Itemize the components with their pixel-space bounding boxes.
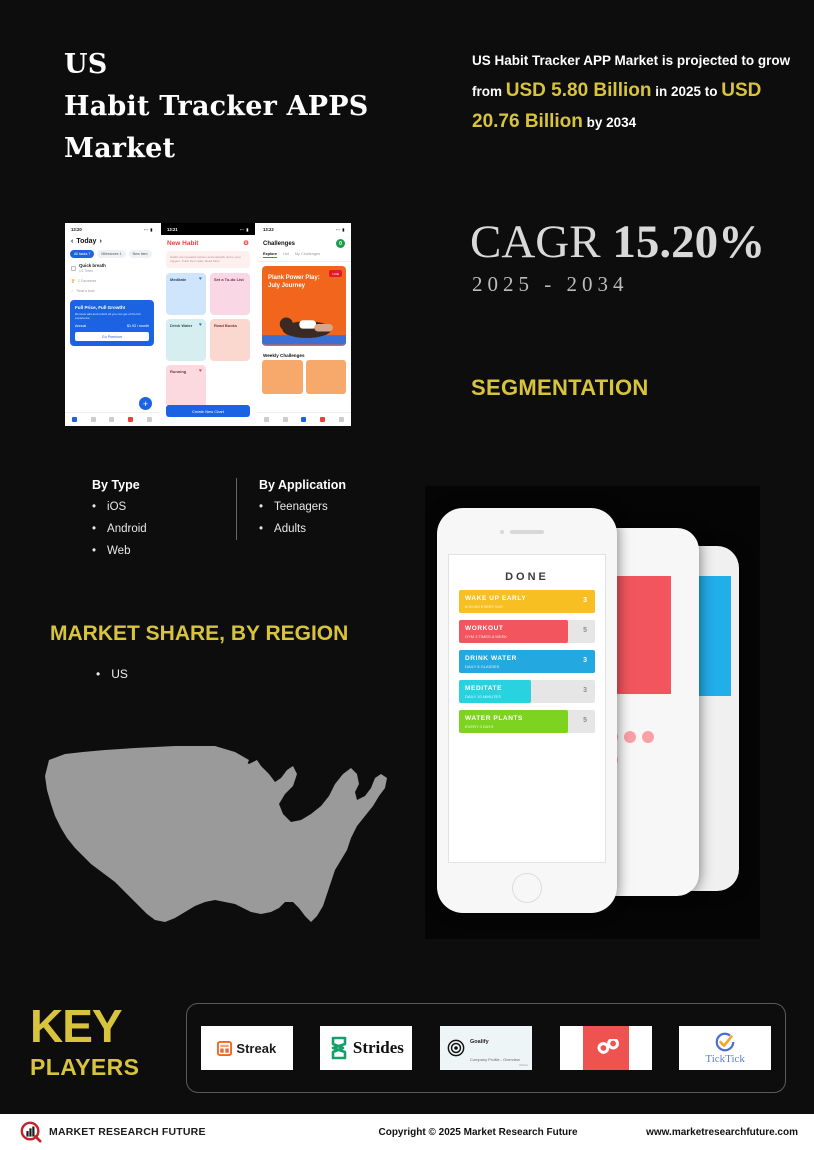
- loop-icon: [583, 1026, 629, 1070]
- habit-sub: EVERY 3 DAYS: [465, 724, 493, 729]
- weekly-card-2[interactable]: [306, 360, 347, 394]
- nav-icon-journal[interactable]: [72, 417, 77, 422]
- task-row[interactable]: Quick breath 1/2 Times: [65, 260, 159, 276]
- chevron-right-icon[interactable]: ›: [99, 238, 101, 245]
- avatar[interactable]: 0: [336, 239, 345, 248]
- title-line-2: Habit Tracker APPS: [64, 86, 368, 128]
- streak-icon: [217, 1041, 232, 1056]
- new-habit-header: New Habit ⚙: [161, 235, 255, 251]
- heart-icon-3[interactable]: ♥: [199, 368, 202, 374]
- status-time-c: 13:22: [263, 227, 274, 232]
- segment-title-application: By Application: [259, 478, 366, 492]
- footer: MARKET RESEARCH FUTURE Copyright © 2025 …: [0, 1114, 814, 1150]
- footer-copyright: Copyright © 2025 Market Research Future: [310, 1127, 646, 1138]
- habit-card-drink-water[interactable]: Drink Water ♥: [166, 319, 206, 361]
- segmentation-heading: SEGMENTATION: [471, 375, 649, 401]
- habit-progress-row[interactable]: MEDITATE DAILY 10 MINUTES 3: [459, 680, 595, 703]
- region-heading: MARKET SHARE, BY REGION: [50, 622, 348, 646]
- goalify-mark: Others: [519, 1063, 528, 1067]
- habit-progress-row[interactable]: DRINK WATER DAILY 8 GLASSES 3: [459, 650, 595, 673]
- logo-goalify[interactable]: Goalify Company Profile - Overview Other…: [440, 1026, 532, 1070]
- bullet-icon: •: [92, 545, 96, 557]
- task-sub: 1/2 Times: [79, 269, 93, 273]
- trophy-icon: 🏆: [71, 279, 75, 283]
- go-premium-button[interactable]: Go Premium: [75, 332, 149, 341]
- cagr-label: CAGR: [470, 216, 601, 268]
- players-word: PLAYERS: [30, 1056, 139, 1079]
- us-map: [35, 730, 395, 965]
- gear-icon[interactable]: ⚙: [243, 239, 249, 247]
- nav-icon-more[interactable]: [147, 417, 152, 422]
- nav-icon-rewards-c[interactable]: [320, 417, 325, 422]
- habit-progress-row[interactable]: WAKE UP EARLY 6:00 AM EVERY DAY 3: [459, 590, 595, 613]
- segment-item-label: Android: [107, 523, 147, 535]
- habit-note: Habits are repeated actions automaticall…: [166, 251, 250, 268]
- group-row-read[interactable]: ✓ Read a book: [65, 286, 159, 296]
- title-line-3: Market: [64, 128, 368, 170]
- segment-item-label: Web: [107, 545, 130, 557]
- bullet-icon: •: [259, 501, 263, 513]
- segment-item: •Android: [92, 523, 222, 535]
- projection-mid: in 2025 to: [655, 84, 717, 99]
- region-item-label: US: [111, 667, 128, 681]
- chip-new-item[interactable]: New item: [129, 250, 152, 258]
- strides-icon: [329, 1036, 349, 1060]
- segment-title-type: By Type: [92, 478, 222, 492]
- status-bar-c: 13:22 ⋯ ▮: [257, 223, 351, 235]
- projection-text: US Habit Tracker APP Market is projected…: [472, 46, 792, 138]
- status-time: 13:20: [71, 227, 82, 232]
- mrfr-logo-icon: [20, 1121, 42, 1143]
- promo-plan: Annual: [75, 324, 86, 328]
- goalify-label: Goalify: [470, 1039, 489, 1045]
- habit-card-label-2: Drink Water: [170, 323, 192, 328]
- key-players-logo-box: Streak Strides Goalify Company Profile -…: [186, 1003, 786, 1093]
- infinity-icon: [591, 1039, 621, 1057]
- footer-brand-label: MARKET RESEARCH FUTURE: [49, 1126, 206, 1138]
- segmentation-columns: By Type •iOS •Android •Web By Applicatio…: [92, 478, 366, 567]
- cagr-value: 15.20%: [612, 216, 765, 268]
- speaker-grille: [510, 530, 544, 534]
- nav-icon-rewards[interactable]: [128, 417, 133, 422]
- ticktick-icon: [714, 1031, 736, 1053]
- cagr-years: 2025 - 2034: [472, 272, 629, 297]
- segment-item: •Web: [92, 545, 222, 557]
- plank-illustration: [262, 302, 346, 346]
- goalify-sub: Company Profile - Overview: [470, 1057, 520, 1062]
- segment-item-label: Adults: [274, 523, 306, 535]
- key-dot: [624, 731, 636, 743]
- projection-lead: US Habit Tracker APP Market is projected…: [472, 53, 790, 68]
- habit-card-label-4: Running: [170, 369, 186, 374]
- checkbox-icon[interactable]: [71, 266, 76, 271]
- ticktick-label: TickTick: [705, 1053, 745, 1065]
- challenges-label: Challenges: [263, 241, 295, 247]
- habit-sub: GYM 3 TIMES A WEEK: [465, 634, 507, 639]
- new-habit-label: New Habit: [167, 240, 198, 247]
- cagr-block: CAGR 15.20%: [470, 216, 765, 268]
- habit-card-label-0: Meditate: [170, 277, 186, 282]
- weekly-challenges-title: Weekly Challenges: [257, 350, 351, 360]
- nav-icon-overview[interactable]: [91, 417, 96, 422]
- habit-card-label-3: Read Books: [214, 323, 237, 328]
- promo-title: Full Price, Full Growth!: [75, 305, 149, 310]
- heart-icon[interactable]: ♥: [199, 276, 202, 282]
- bullet-icon: •: [96, 667, 100, 681]
- habit-name: DRINK WATER: [465, 655, 517, 662]
- banner-title-2: July Journey: [268, 283, 305, 289]
- today-header: ‹ Today ›: [65, 235, 159, 248]
- phone-foreground: DONE WAKE UP EARLY 6:00 AM EVERY DAY 3 W…: [437, 508, 617, 913]
- premium-promo-card[interactable]: Full Price, Full Growth! Remove ads and …: [70, 300, 154, 346]
- segment-item-label: iOS: [107, 501, 126, 513]
- nav-icon-journal-c[interactable]: [264, 417, 269, 422]
- habit-note-link[interactable]: Read More: [205, 259, 220, 263]
- projection-tail: by 2034: [587, 115, 637, 130]
- status-icons: ⋯ ▮: [144, 227, 153, 232]
- logo-ticktick[interactable]: TickTick: [679, 1026, 771, 1070]
- group-row-successes[interactable]: 🏆 2 Successes: [65, 276, 159, 286]
- habit-count: 5: [583, 627, 587, 634]
- segment-item: •Teenagers: [259, 501, 366, 513]
- habit-card-running[interactable]: Running ♥: [166, 365, 206, 407]
- status-bar: 13:20 ⋯ ▮: [65, 223, 159, 235]
- segment-column-application: By Application •Teenagers •Adults: [236, 478, 366, 540]
- check-icon: ✓: [71, 289, 74, 293]
- region-item: • US: [96, 667, 128, 681]
- segment-item-label: Teenagers: [274, 501, 328, 513]
- streak-label: Streak: [236, 1041, 276, 1056]
- home-button[interactable]: [512, 873, 542, 903]
- bullet-icon: •: [259, 523, 263, 535]
- key-players-heading: KEY PLAYERS: [30, 1003, 139, 1079]
- habit-progress-row[interactable]: WATER PLANTS EVERY 3 DAYS 5: [459, 710, 595, 733]
- habit-card-meditate[interactable]: Meditate ♥: [166, 273, 206, 315]
- projection-from-word: from: [472, 84, 502, 99]
- segment-column-type: By Type •iOS •Android •Web: [92, 478, 222, 567]
- habit-sub: 6:00 AM EVERY DAY: [465, 604, 503, 609]
- habit-count: 3: [583, 597, 587, 604]
- app-screenshot-new-habit: 13:21 ⋯ ▮ New Habit ⚙ Habits are repeate…: [161, 223, 255, 426]
- key-word: KEY: [30, 1003, 139, 1049]
- footer-url[interactable]: www.marketresearchfuture.com: [646, 1127, 798, 1138]
- challenge-banner[interactable]: LIVE Plank Power Play: July Journey: [262, 266, 346, 346]
- weekly-card-1[interactable]: [262, 360, 303, 394]
- bullet-icon: •: [92, 501, 96, 513]
- challenges-header: Challenges 0: [257, 235, 351, 252]
- camera-icon: [500, 530, 504, 534]
- habit-name: WATER PLANTS: [465, 715, 523, 722]
- logo-loop[interactable]: [560, 1026, 652, 1070]
- habit-card-label-1: Set a To-do List: [214, 277, 244, 282]
- habit-card-read-books[interactable]: Read Books: [210, 319, 250, 361]
- challenges-tabs: Explore Hot My Challenges: [257, 252, 351, 262]
- app-screenshots-collage: 13:20 ⋯ ▮ ‹ Today › All tasks 7 Mileston…: [65, 223, 351, 426]
- segment-item: •Adults: [259, 523, 366, 535]
- goalify-icon: [447, 1039, 465, 1057]
- habit-progress-row[interactable]: WORKOUT GYM 3 TIMES A WEEK 5: [459, 620, 595, 643]
- logo-strides[interactable]: Strides: [320, 1026, 412, 1070]
- live-badge: LIVE: [329, 270, 342, 277]
- logo-streak[interactable]: Streak: [201, 1026, 293, 1070]
- page-title: US Habit Tracker APPS Market: [64, 44, 368, 170]
- chip-all-tasks[interactable]: All tasks 7: [70, 250, 94, 258]
- group-label-2: Read a book: [77, 289, 95, 293]
- tab-my-challenges[interactable]: My Challenges: [295, 252, 320, 258]
- chevron-left-icon[interactable]: ‹: [71, 238, 73, 245]
- segment-item: •iOS: [92, 501, 222, 513]
- habit-count: 3: [583, 687, 587, 694]
- app-screenshot-today: 13:20 ⋯ ▮ ‹ Today › All tasks 7 Mileston…: [65, 223, 159, 426]
- app-screenshot-challenges: 13:22 ⋯ ▮ Challenges 0 Explore Hot My Ch…: [257, 223, 351, 426]
- add-task-fab[interactable]: +: [139, 397, 152, 410]
- habit-name: WORKOUT: [465, 625, 504, 632]
- title-line-1: US: [64, 44, 368, 86]
- promo-text: Remove ads and unlock all you can get of…: [75, 312, 149, 320]
- habit-app-phones-photo: ATER DONE WAKE UP EARLY 6:00 AM EVERY DA…: [425, 486, 760, 939]
- banner-title-1: Plank Power Play:: [268, 275, 320, 281]
- status-icons-b: ⋯ ▮: [240, 227, 249, 232]
- task-title: Quick breath: [79, 263, 106, 268]
- nav-icon-challenges-c[interactable]: [301, 417, 306, 422]
- filter-chips: All tasks 7 Milestones 1 New item: [65, 248, 159, 260]
- habit-count: 3: [583, 657, 587, 664]
- habit-count: 5: [583, 717, 587, 724]
- promo-price: $1.93 / month: [127, 324, 149, 328]
- group-label: 2 Successes: [78, 279, 96, 283]
- key-dot: [642, 731, 654, 743]
- habit-card-todo[interactable]: Set a To-do List: [210, 273, 250, 315]
- heart-icon-2[interactable]: ♥: [199, 322, 202, 328]
- bottom-nav: [65, 412, 159, 426]
- tab-explore[interactable]: Explore: [263, 252, 277, 258]
- nav-icon-challenges[interactable]: [109, 417, 114, 422]
- status-icons-c: ⋯ ▮: [336, 227, 345, 232]
- strides-label: Strides: [353, 1038, 404, 1058]
- bullet-icon: •: [92, 523, 96, 535]
- status-time-b: 13:21: [167, 227, 178, 232]
- habit-name: WAKE UP EARLY: [465, 595, 526, 602]
- nav-icon-more-c[interactable]: [339, 417, 344, 422]
- habit-card-grid: Meditate ♥ Set a To-do List Drink Water …: [161, 268, 255, 412]
- tab-hot[interactable]: Hot: [283, 252, 289, 258]
- create-chart-button[interactable]: Create New Chart: [166, 405, 250, 417]
- bottom-nav-c: [257, 412, 351, 426]
- projection-from-value: USD 5.80 Billion: [506, 80, 652, 101]
- footer-brand: MARKET RESEARCH FUTURE: [20, 1121, 310, 1143]
- chip-milestones[interactable]: Milestones 1: [97, 250, 125, 258]
- done-title: DONE: [449, 571, 605, 583]
- nav-icon-overview-c[interactable]: [283, 417, 288, 422]
- habit-sub: DAILY 8 GLASSES: [465, 664, 499, 669]
- habit-name: MEDITATE: [465, 685, 502, 692]
- today-label: Today: [76, 238, 96, 245]
- habit-sub: DAILY 10 MINUTES: [465, 694, 501, 699]
- status-bar-b: 13:21 ⋯ ▮: [161, 223, 255, 235]
- weekly-challenge-cards: [257, 360, 351, 394]
- done-screen: DONE WAKE UP EARLY 6:00 AM EVERY DAY 3 W…: [448, 554, 606, 863]
